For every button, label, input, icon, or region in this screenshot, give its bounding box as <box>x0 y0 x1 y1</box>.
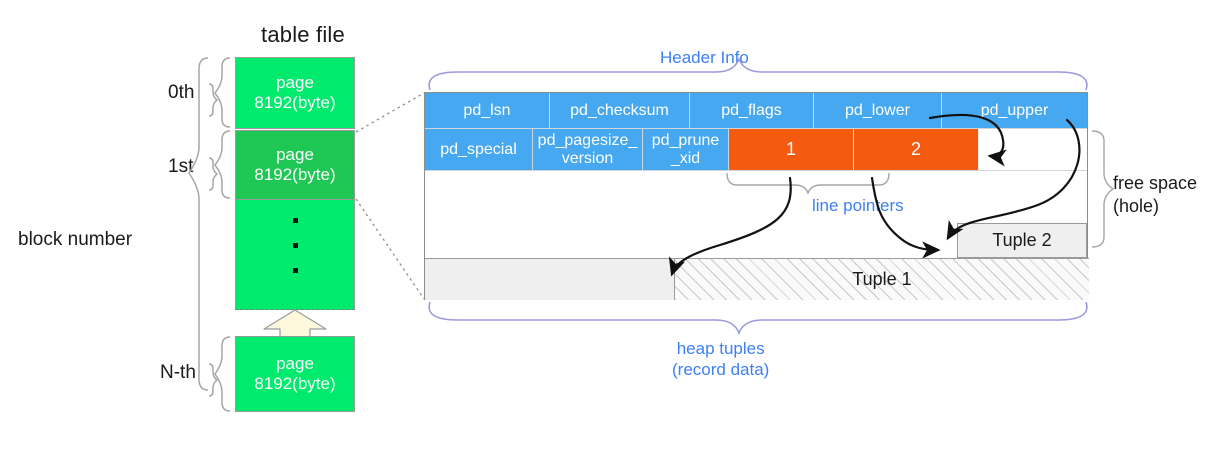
page-block-1st-line1: page <box>276 145 314 165</box>
page-block-0th-line1: page <box>276 73 314 93</box>
line-pointer-1: 1 <box>729 129 854 171</box>
page-block-nth: page 8192(byte) <box>235 336 355 412</box>
header-cell-pd-upper: pd_upper <box>942 93 1087 129</box>
free-space-label: free space (hole) <box>1113 172 1197 217</box>
line-pointers-label: line pointers <box>812 196 904 216</box>
block-label-1st: 1st <box>168 156 193 178</box>
page-block-nth-line1: page <box>276 354 314 374</box>
page-block-1st-line2: 8192(byte) <box>254 165 335 185</box>
page-block-ellipsis <box>235 200 355 310</box>
header-cell-pd-pagesize: pd_pagesize_ version <box>533 129 643 171</box>
header-row-2-blank <box>979 129 1087 171</box>
page-block-1st: page 8192(byte) <box>235 130 355 200</box>
page-block-0th-line2: 8192(byte) <box>254 93 335 113</box>
grow-arrow-icon <box>262 309 328 339</box>
header-cell-pd-flags: pd_flags <box>690 93 814 129</box>
block-label-0th: 0th <box>168 82 194 104</box>
header-info-label: Header Info <box>660 48 749 68</box>
page-block-0th: page 8192(byte) <box>235 57 355 129</box>
tuple-1-box: Tuple 1 <box>675 259 1089 300</box>
tuple-1-free-segment <box>425 259 675 300</box>
tuple-1-row: Tuple 1 <box>425 258 1089 300</box>
table-file-title: table file <box>243 22 363 48</box>
diagram-canvas: table file page 8192(byte) page 8192(byt… <box>0 0 1214 461</box>
header-cell-pd-special: pd_special <box>425 129 533 171</box>
page-detail-container: pd_lsn pd_checksum pd_flags pd_lower pd_… <box>424 92 1088 300</box>
header-cell-pd-checksum: pd_checksum <box>550 93 690 129</box>
tuple-2-box: Tuple 2 <box>957 223 1087 258</box>
page-header-row-2: pd_special pd_pagesize_ version pd_prune… <box>425 129 1087 171</box>
heap-tuples-label: heap tuples (record data) <box>672 338 769 381</box>
header-cell-pd-lower: pd_lower <box>814 93 942 129</box>
header-cell-pd-prune-xid: pd_prune _xid <box>643 129 729 171</box>
page-header-row-1: pd_lsn pd_checksum pd_flags pd_lower pd_… <box>425 93 1087 129</box>
page-block-nth-line2: 8192(byte) <box>254 374 335 394</box>
vertical-ellipsis-icon <box>236 218 354 273</box>
line-pointer-2: 2 <box>854 129 979 171</box>
header-cell-pd-lsn: pd_lsn <box>425 93 550 129</box>
block-label-nth: N-th <box>160 362 196 384</box>
block-number-label: block number <box>18 229 132 251</box>
